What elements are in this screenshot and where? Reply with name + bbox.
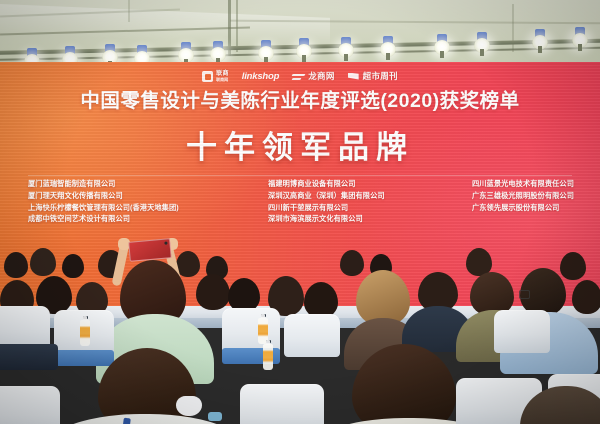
winner-entry: 深圳汉高商业（深圳）集团有限公司 — [268, 192, 385, 200]
winner-entry: 厦门理天翔文化传播有限公司 — [28, 192, 179, 200]
sponsor-logo-row: 联商 联商网 linkshop 龙商网 超市周刊 — [0, 69, 600, 84]
hall-column — [512, 4, 514, 52]
winner-entry: 四川蓝景光电技术有限责任公司 — [472, 180, 574, 188]
audience-head — [196, 274, 230, 310]
juice-bottle — [263, 340, 273, 370]
banner-title: 中国零售设计与美陈行业年度评选(2020)获奖榜单 — [0, 92, 600, 112]
audience — [0, 236, 600, 424]
stage-light — [434, 34, 450, 56]
linkshop-logo: linkshop — [242, 72, 279, 82]
winner-entry: 广东领先展示股份有限公司 — [472, 204, 574, 212]
small-object — [208, 412, 222, 421]
winner-entry: 上海快乐柠檬餐饮管理有限公司(香港天地集团) — [28, 204, 179, 212]
audience-head — [572, 280, 600, 314]
partner-logo-sub: 联商网 — [216, 78, 229, 82]
winner-list: 厦门蓝瑞智能制造有限公司 厦门理天翔文化传播有限公司 上海快乐柠檬餐饮管理有限公… — [28, 180, 574, 224]
longshang-logo: 龙商网 — [292, 72, 334, 81]
audience-head — [228, 278, 260, 312]
winner-entry: 成都中铁空间艺术设计有限公司 — [28, 215, 179, 223]
juice-bottle — [80, 316, 90, 346]
audience-head — [62, 254, 84, 278]
chair-back — [494, 310, 550, 353]
winner-entry: 广东三雄极光照明股份有限公司 — [472, 192, 574, 200]
stage-light — [572, 27, 588, 49]
bag — [0, 344, 58, 370]
partner-logo-mark: 联商 联商网 — [202, 71, 229, 82]
face-mask — [176, 396, 202, 416]
glasses-icon — [519, 290, 530, 299]
stage-light — [178, 42, 194, 64]
foreground-shoulders-left — [34, 414, 256, 424]
chair-back — [240, 384, 324, 424]
hall-column — [236, 0, 238, 52]
audience-head — [304, 282, 338, 318]
longshang-word: 龙商网 — [308, 72, 334, 81]
winner-column-3: 四川蓝景光电技术有限责任公司 广东三雄极光照明股份有限公司 广东领先展示股份有限… — [472, 180, 574, 224]
stage-light — [210, 41, 226, 63]
audience-head — [340, 250, 364, 276]
chair-back — [0, 386, 60, 424]
stage-light — [532, 29, 548, 51]
stage-light — [474, 32, 490, 54]
swoosh-icon — [292, 72, 305, 81]
stage-light — [296, 38, 312, 60]
audience-head — [4, 252, 28, 278]
banner-divider — [28, 175, 572, 176]
chair-seat — [54, 350, 114, 366]
audience-head — [30, 248, 56, 276]
banner-subtitle: 十年领军品牌 — [0, 132, 600, 163]
chair-back — [284, 314, 340, 357]
linkshop-wordmark: linkshop — [242, 72, 279, 82]
stage-light — [258, 40, 274, 62]
stage-light — [338, 37, 354, 59]
winner-entry: 厦门蓝瑞智能制造有限公司 — [28, 180, 179, 188]
winner-column-2: 福建明博商业设备有限公司 深圳汉高商业（深圳）集团有限公司 四川新干堃展示有限公… — [268, 180, 385, 224]
winner-column-1: 厦门蓝瑞智能制造有限公司 厦门理天翔文化传播有限公司 上海快乐柠檬餐饮管理有限公… — [28, 180, 179, 224]
supermarket-weekly-logo: 超市周刊 — [348, 72, 398, 82]
winner-entry: 深圳市海滨展示文化有限公司 — [268, 215, 385, 223]
smartphone — [128, 238, 172, 262]
stage-light — [380, 36, 396, 58]
square-mark-icon — [202, 71, 213, 82]
supermarket-weekly-word: 超市周刊 — [363, 72, 398, 81]
flag-icon — [348, 72, 360, 82]
audience-head — [560, 252, 586, 280]
winner-entry: 福建明博商业设备有限公司 — [268, 180, 385, 188]
hall-column — [128, 0, 130, 22]
screenshot-root: 联商 联商网 linkshop 龙商网 超市周刊 中国零售设计与美陈行业年度评选… — [0, 0, 600, 424]
winner-entry: 四川新干堃展示有限公司 — [268, 204, 385, 212]
